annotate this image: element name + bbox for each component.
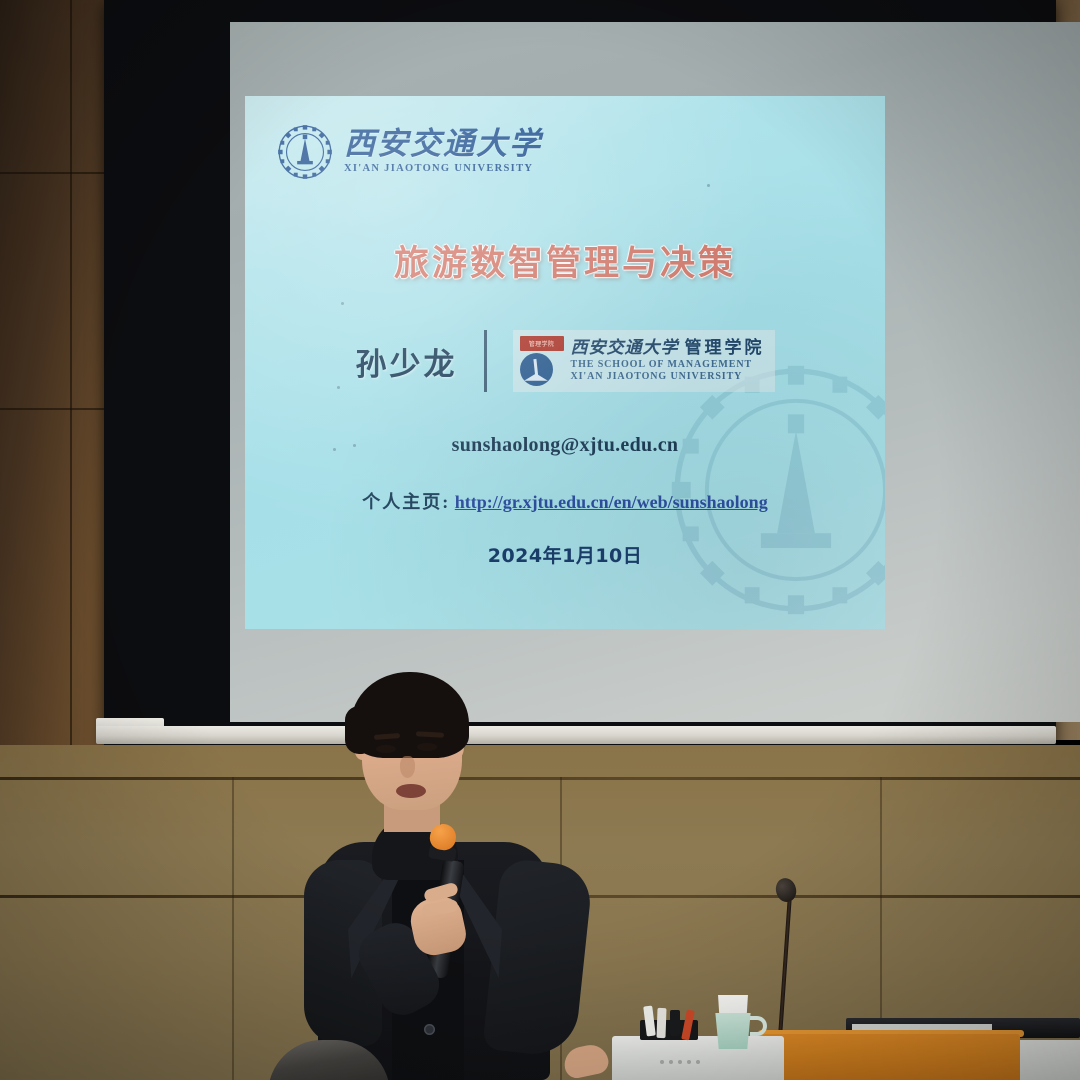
homepage-label: 个人主页: — [362, 492, 450, 512]
presenter-homepage: 个人主页: http://gr.xjtu.edu.cn/en/web/sunsh… — [245, 488, 885, 514]
university-name-en: XI'AN JIAOTONG UNIVERSITY — [344, 164, 542, 175]
coat-button-2 — [424, 1024, 435, 1035]
presenter-eye-right — [417, 743, 437, 751]
presenter-row: 孙少龙 管理学院 西安交通大学 管理学院 THE SCHOOL OF MANAG… — [245, 330, 885, 392]
university-name-cn: 西安交通大学 — [344, 129, 542, 160]
slide-title: 旅游数智管理与决策 — [245, 235, 885, 286]
school-name-en-line2: XI'AN JIAOTONG UNIVERSITY — [571, 372, 765, 383]
marker-black — [670, 1010, 680, 1036]
school-globe-icon — [520, 353, 553, 386]
presenter-name: 孙少龙 — [356, 339, 458, 384]
divider-rule — [484, 330, 487, 392]
school-badge-text: 管理学院 — [529, 339, 555, 348]
green-cup — [712, 1013, 754, 1049]
school-name-en-line1: THE SCHOOL OF MANAGEMENT — [571, 360, 765, 371]
cabinet-label — [660, 1060, 700, 1064]
school-logo-text: 西安交通大学 管理学院 THE SCHOOL OF MANAGEMENT XI'… — [571, 340, 765, 383]
presenter-mouth — [396, 784, 426, 798]
presenter-person — [296, 672, 646, 1080]
wooden-podium — [762, 1034, 1020, 1080]
school-university-cn: 西安交通大学 — [571, 340, 679, 358]
side-cabinet — [1016, 1040, 1080, 1080]
school-logo-marks: 管理学院 — [520, 336, 564, 386]
presenter-hair — [351, 672, 469, 758]
presenter-right-hand — [561, 1042, 610, 1080]
slide-university-logo: 西安交通大学 XI'AN JIAOTONG UNIVERSITY — [277, 124, 542, 180]
eraser-white-2 — [656, 1008, 666, 1038]
school-name-cn: 管理学院 — [685, 340, 765, 358]
school-of-management-logo: 管理学院 西安交通大学 管理学院 THE SCHOOL OF MANAGEMEN… — [513, 330, 775, 392]
presentation-slide: 西安交通大学 XI'AN JIAOTONG UNIVERSITY 旅游数智管理与… — [245, 96, 885, 629]
lecture-hall-scene: 西安交通大学 XI'AN JIAOTONG UNIVERSITY 旅游数智管理与… — [0, 0, 1080, 1080]
presenter-email: sunshaolong@xjtu.edu.cn — [245, 434, 885, 457]
homepage-link[interactable]: http://gr.xjtu.edu.cn/en/web/sunshaolong — [455, 492, 768, 512]
slide-date: 2024年1月10日 — [245, 541, 885, 568]
presenter-eye-left — [376, 745, 396, 753]
school-badge: 管理学院 — [520, 336, 564, 351]
presenter-nose — [400, 756, 415, 778]
xjtu-seal-icon — [277, 124, 333, 180]
